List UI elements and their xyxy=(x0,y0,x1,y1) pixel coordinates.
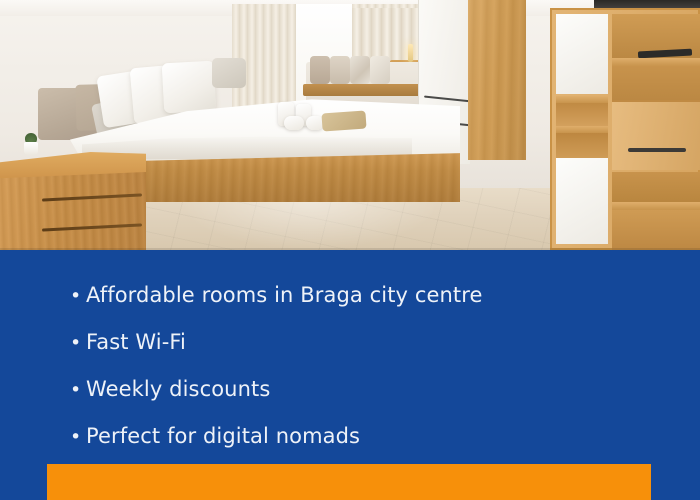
shelf-board xyxy=(612,58,700,66)
shelf-compartment xyxy=(612,66,700,100)
list-item: • Fast Wi-Fi xyxy=(70,319,670,366)
bullet-icon: • xyxy=(70,273,86,320)
feature-list: • Affordable rooms in Braga city centre … xyxy=(70,272,670,460)
hero-image xyxy=(0,0,700,250)
sofa-cushion xyxy=(330,56,350,84)
ad-card: • Affordable rooms in Braga city centre … xyxy=(0,0,700,500)
towel xyxy=(284,116,304,130)
list-item: • Perfect for digital nomads xyxy=(70,413,670,460)
feature-label: Fast Wi-Fi xyxy=(86,319,186,366)
list-item: • Affordable rooms in Braga city centre xyxy=(70,272,670,319)
feature-panel: • Affordable rooms in Braga city centre … xyxy=(0,250,700,500)
pillow-grey xyxy=(212,58,246,88)
shelf-door-white xyxy=(556,14,608,94)
folded-blanket xyxy=(321,110,366,131)
sofa-cushion xyxy=(310,56,330,84)
shelf-gap xyxy=(556,103,608,126)
booking-cta-button[interactable]: Reservas / Booking xyxy=(47,464,651,500)
pillow xyxy=(162,61,217,114)
shelf-board xyxy=(612,202,700,210)
sofa-base xyxy=(303,84,431,96)
sofa-cushion xyxy=(370,56,390,84)
sofa-cushion xyxy=(350,56,370,84)
bullet-icon: • xyxy=(70,367,86,414)
drawer-handle xyxy=(628,148,686,152)
shelf-board xyxy=(556,126,608,133)
bedroom-photo xyxy=(0,0,700,250)
shelf-door-white xyxy=(556,158,608,244)
feature-label: Affordable rooms in Braga city centre xyxy=(86,272,483,319)
shelf-board xyxy=(556,96,608,103)
shelf-gap xyxy=(556,133,608,158)
bullet-icon: • xyxy=(70,414,86,461)
list-item: • Weekly discounts xyxy=(70,366,670,413)
feature-label: Perfect for digital nomads xyxy=(86,413,360,460)
wardrobe-wood-grain xyxy=(468,0,526,160)
nightstand-grain xyxy=(0,172,146,250)
shelf-drawer xyxy=(612,100,700,170)
bullet-icon: • xyxy=(70,320,86,367)
plant-pot xyxy=(24,142,38,155)
shelf-compartment xyxy=(612,210,700,250)
desk-lamp xyxy=(408,44,413,62)
booking-cta-label: Reservas / Booking xyxy=(47,464,651,500)
feature-label: Weekly discounts xyxy=(86,366,270,413)
shelf-compartment xyxy=(612,172,700,202)
